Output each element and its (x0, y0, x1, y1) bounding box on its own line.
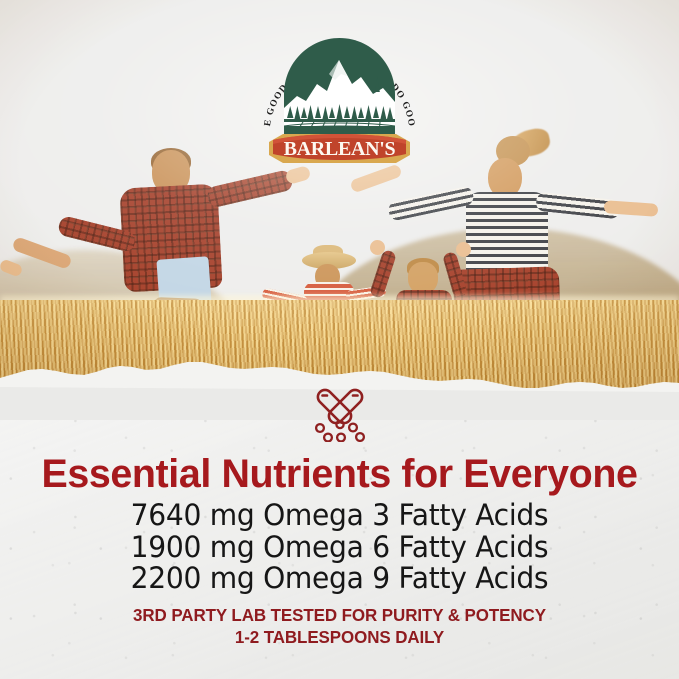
man-right-hand (285, 165, 312, 185)
product-infographic: WE MAKE GOOD STUFF SO YOU CAN DO GOOD ST… (0, 0, 679, 679)
woman-left-arm (387, 185, 475, 221)
nutrient-fact: 7640 mg Omega 3 Fatty Acids (10, 500, 669, 532)
dosage-claim: 1-2 TABLESPOONS DAILY (10, 626, 669, 648)
nutrient-fact: 2200 mg Omega 9 Fatty Acids (10, 563, 669, 595)
two-crossed-capsules-with-pills-icon (311, 386, 369, 442)
claims-list: 3RD PARTY LAB TESTED FOR PURITY & POTENC… (0, 604, 679, 648)
wheat-field (0, 300, 679, 400)
logo-dome (284, 38, 395, 134)
barleans-logo: WE MAKE GOOD STUFF SO YOU CAN DO GOOD ST… (257, 22, 422, 167)
logo-ribbon: BARLEAN'S (269, 134, 410, 163)
logo-wordmark: BARLEAN'S (284, 138, 396, 160)
lab-tested-claim: 3RD PARTY LAB TESTED FOR PURITY & POTENC… (10, 604, 669, 626)
woman-left-forearm (349, 163, 402, 193)
boy-left-hand (370, 240, 385, 255)
nutrient-fact: 1900 mg Omega 6 Fatty Acids (10, 532, 669, 564)
nutrient-fact-list: 7640 mg Omega 3 Fatty Acids 1900 mg Omeg… (0, 500, 679, 595)
man-right-arm (206, 169, 295, 209)
boy-right-hand (456, 242, 471, 257)
page-title: Essential Nutrients for Everyone (5, 452, 674, 496)
